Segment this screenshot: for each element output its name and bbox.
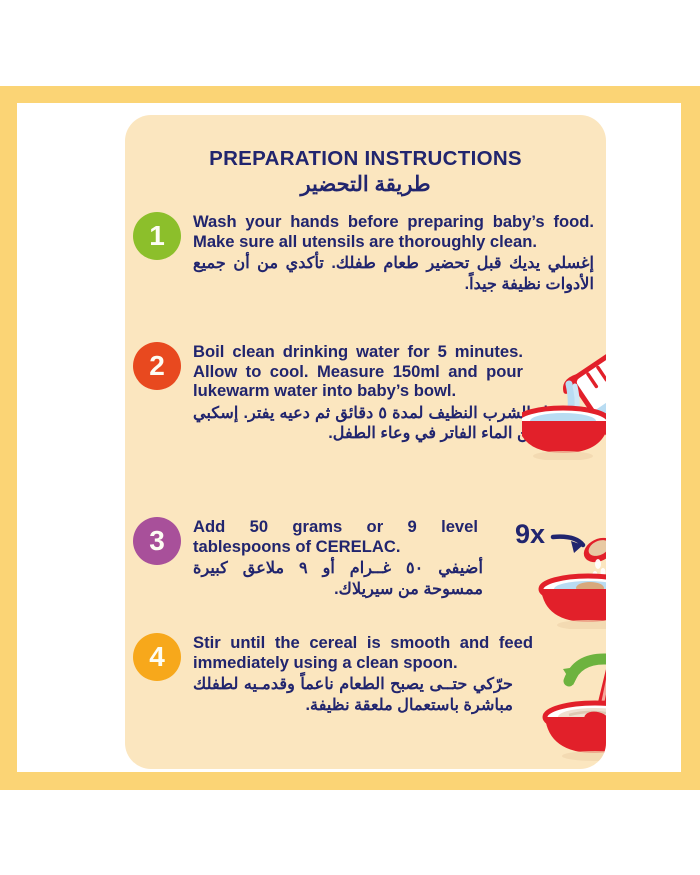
card-header: PREPARATION INSTRUCTIONS طريقة التحضير <box>125 115 606 198</box>
instruction-step-4: 4 Stir until the cereal is smooth and fe… <box>125 633 606 716</box>
step-3-text-arabic: أضيفي ٥٠ غــرام أو ٩ ملاعق كبيرة ممسوحة … <box>193 558 483 599</box>
scoop-count-label-9x: 9x <box>515 519 545 550</box>
spoon-adding-cereal-to-bowl-illustration: 9x <box>513 509 606 629</box>
step-3-text-english: Add 50 grams or 9 level tablespoons of C… <box>193 517 478 556</box>
preparation-instructions-card: PREPARATION INSTRUCTIONS طريقة التحضير 1… <box>125 115 606 769</box>
step-number-badge-3: 3 <box>133 517 181 565</box>
instruction-step-3: 3 Add 50 grams or 9 level tablespoons of… <box>125 517 606 600</box>
step-3-body: Add 50 grams or 9 level tablespoons of C… <box>193 517 594 600</box>
step-1-text-arabic: إغسلي يديك قبل تحضير طعام طفلك. تأكدي من… <box>193 253 594 294</box>
step-number-badge-4: 4 <box>133 633 181 681</box>
instruction-step-2: 2 Boil clean drinking water for 5 minute… <box>125 342 606 444</box>
step-number-badge-1: 1 <box>133 212 181 260</box>
stirring-bowl-with-spoon-illustration <box>523 637 606 762</box>
step-2-text-english: Boil clean drinking water for 5 minutes.… <box>193 342 523 401</box>
instruction-step-1: 1 Wash your hands before preparing baby’… <box>125 212 606 295</box>
step-1-body: Wash your hands before preparing baby’s … <box>193 212 594 295</box>
step-4-text-arabic: حرّكي حتــى يصبح الطعام ناعماً وقدمـيه ل… <box>193 674 513 715</box>
step-4-body: Stir until the cereal is smooth and feed… <box>193 633 594 716</box>
step-2-body: Boil clean drinking water for 5 minutes.… <box>193 342 594 444</box>
step-2-text-arabic: إغلي ماء الشرب النظيف لمدة ٥ دقائق ثم دع… <box>193 403 594 444</box>
step-4-text-english: Stir until the cereal is smooth and feed… <box>193 633 533 672</box>
page-title-arabic: طريقة التحضير <box>125 171 606 198</box>
step-number-badge-2: 2 <box>133 342 181 390</box>
page-title-english: PREPARATION INSTRUCTIONS <box>125 148 606 170</box>
step-1-text-english: Wash your hands before preparing baby’s … <box>193 212 594 251</box>
